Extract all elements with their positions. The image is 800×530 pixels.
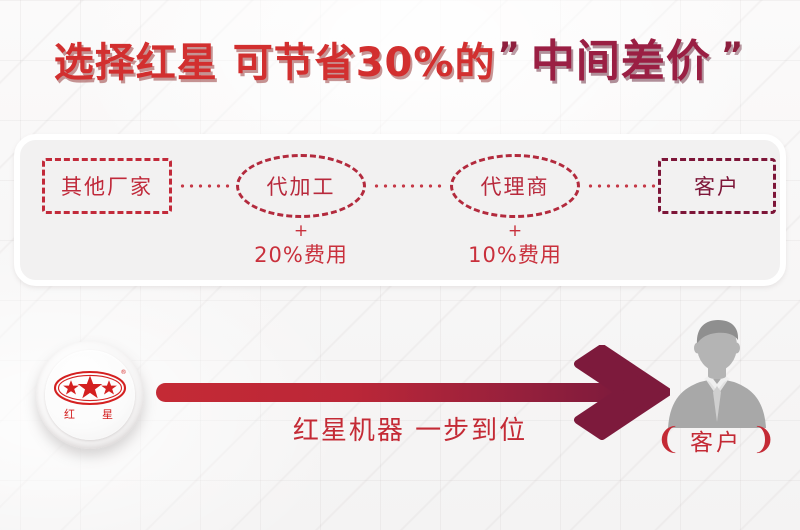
chain-node-label: 其他厂家: [61, 171, 153, 201]
client-destination-tag: ❨ 客户 ❩: [648, 423, 784, 457]
fee-amount: 10%费用: [430, 241, 600, 269]
svg-text:®: ®: [121, 369, 127, 376]
connector-oem-to-agent: [372, 184, 446, 188]
supply-chain-card: 其他厂家 代加工 代理商 客户 + 20%费用 + 10%费用: [14, 134, 786, 286]
fee-plus-sign: +: [430, 222, 600, 241]
chain-node-oem: 代加工: [236, 154, 366, 218]
fee-caption-agent: + 10%费用: [430, 222, 600, 269]
chain-node-client: 客户: [658, 158, 776, 214]
svg-text:红: 红: [64, 408, 75, 421]
quote-open-glyph: ”: [497, 35, 520, 75]
fee-caption-oem: + 20%费用: [216, 222, 386, 269]
svg-text:星: 星: [102, 408, 113, 421]
connector-factory-to-oem: [178, 184, 232, 188]
bracket-right-icon: ❩: [751, 425, 776, 455]
brand-logo-badge: ® 红 星: [36, 341, 144, 449]
businessman-silhouette-icon: [664, 318, 770, 428]
brand-logo-disc: ® 红 星: [45, 350, 135, 440]
fee-plus-sign: +: [216, 222, 386, 241]
chain-node-label: 客户: [694, 171, 740, 201]
headline-segment-saving: 选择红星 可节省30%的: [54, 40, 496, 86]
headline: 选择红星 可节省30%的”中间差价”: [0, 26, 800, 92]
client-destination-label: 客户: [690, 423, 742, 457]
chain-node-label: 代加工: [267, 171, 336, 201]
fee-amount: 20%费用: [216, 241, 386, 269]
three-star-logo-icon: ® 红 星: [52, 367, 128, 423]
client-avatar: [664, 318, 770, 432]
infographic-canvas: 选择红星 可节省30%的”中间差价” 其他厂家 代加工 代理商 客户 + 20%…: [0, 0, 800, 530]
flow-arrow-label: 红星机器 一步到位: [200, 410, 620, 447]
chain-node-agent: 代理商: [450, 154, 580, 218]
quote-close-glyph: ”: [721, 35, 744, 75]
chain-node-label: 代理商: [481, 171, 550, 201]
headline-segment-markup: 中间差价: [531, 36, 711, 87]
connector-agent-to-client: [586, 184, 656, 188]
chain-node-other-factory: 其他厂家: [42, 158, 172, 214]
bracket-left-icon: ❨: [656, 425, 681, 455]
